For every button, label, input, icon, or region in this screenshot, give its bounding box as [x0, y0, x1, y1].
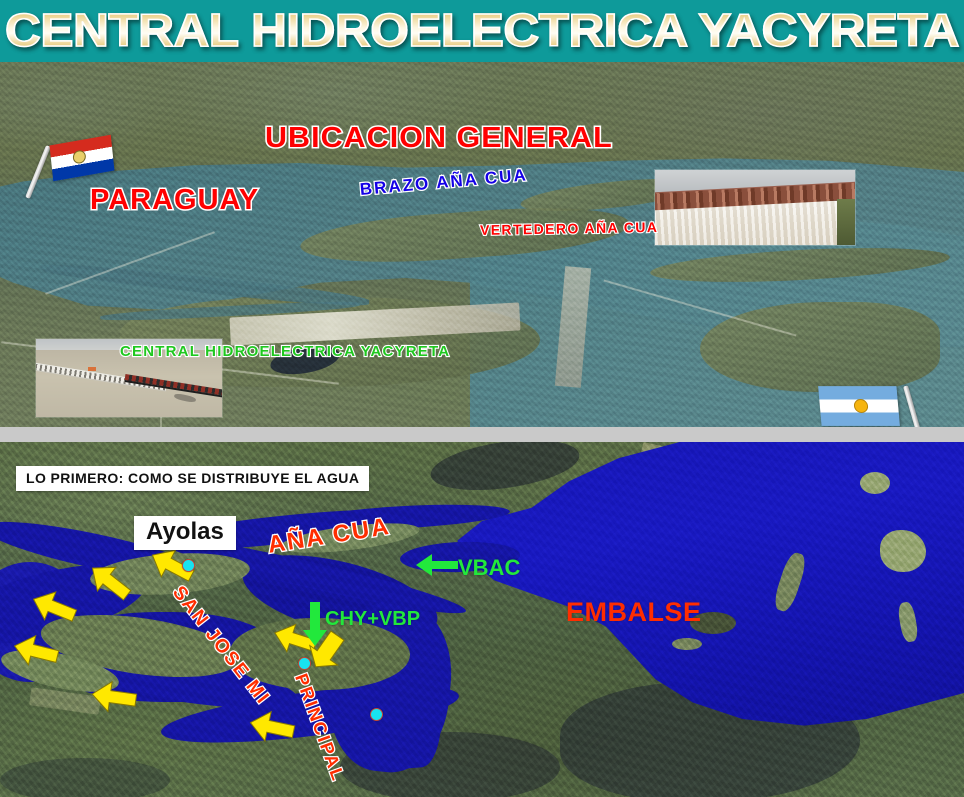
flow-arrow-yellow [86, 564, 132, 598]
country-label-paraguay: PARAGUAY [90, 184, 259, 217]
photo-crane [88, 367, 95, 371]
flow-arrow-yellow [12, 634, 58, 668]
slide-root: CENTRAL HIDROELECTRICA YACYRETA [0, 0, 964, 797]
paraguay-flag-emblem [73, 149, 87, 164]
map-heading-lo-primero: LO PRIMERO: COMO SE DISTRIBUYE EL AGUA [16, 466, 369, 491]
section-divider [0, 427, 964, 442]
feature-label-central-hidroelectrica-yacyreta: CENTRAL HIDROELECTRICA YACYRETA [120, 343, 450, 360]
paraguay-flag [44, 140, 116, 186]
page-title: CENTRAL HIDROELECTRICA YACYRETA [0, 2, 964, 58]
argentina-sun-of-may-icon [854, 400, 867, 412]
feature-label-embalse: EMBALSE [566, 597, 702, 628]
flow-arrow-yellow [90, 680, 136, 714]
city-dot-ituzaingo [370, 708, 383, 721]
feature-label-vertedero-ana-cua: VERTEDERO AÑA CUA [480, 219, 659, 238]
city-label-ayolas: Ayolas [134, 516, 236, 550]
argentina-flag [820, 382, 910, 427]
title-banner: CENTRAL HIDROELECTRICA YACYRETA [0, 0, 964, 62]
bottom-satellite-map: LO PRIMERO: COMO SE DISTRIBUYE EL AGUA A… [0, 442, 964, 797]
argentina-flag-cloth [818, 386, 900, 426]
bottom-map-texture [0, 442, 964, 797]
map-heading-ubicacion-general: UBICACION GENERAL [265, 122, 613, 155]
top-satellite-map: UBICACION GENERAL PARAGUAY BRAZO AÑA CUA… [0, 62, 964, 427]
paraguay-flag-cloth [50, 135, 115, 182]
flow-label-vbac: VBAC [458, 555, 520, 581]
inflow-arrow-vbac [414, 552, 458, 578]
city-dot-ayolas [182, 559, 195, 572]
spillway-photo-inset [655, 170, 855, 245]
flow-arrow-yellow [30, 590, 76, 624]
flow-arrow-yellow [248, 710, 294, 744]
flow-label-chy-vbp: CHY+VBP [325, 608, 420, 631]
photo-riverbank [837, 199, 855, 246]
city-dot-san-antonio [298, 657, 311, 670]
